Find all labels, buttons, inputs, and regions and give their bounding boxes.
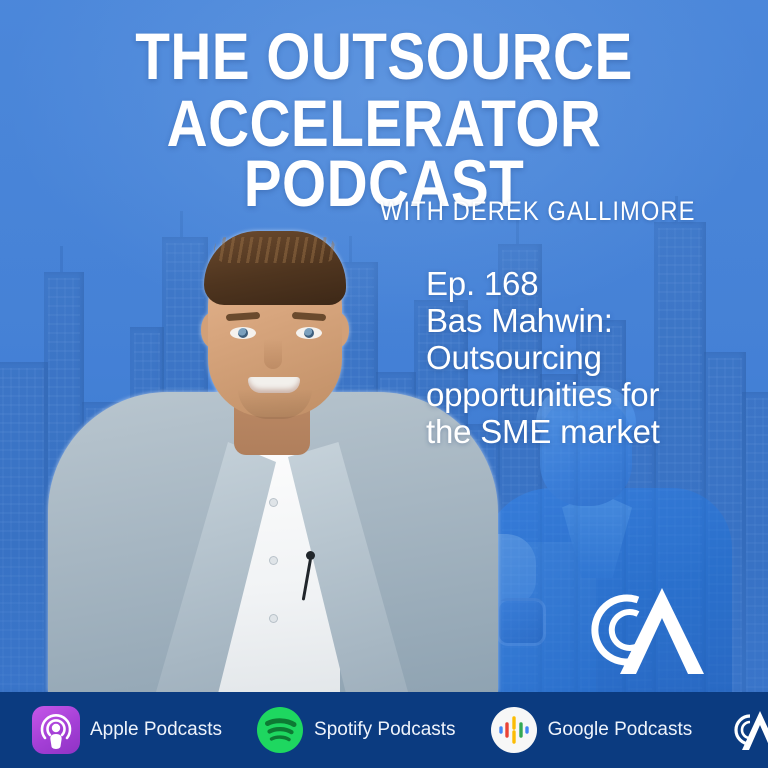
oa-logo-icon-small [724,708,768,752]
channel-label-google: Google Podcasts [548,719,693,741]
episode-topic-line-3: the SME market [426,414,726,451]
channel-google-podcasts[interactable]: Google Podcasts [490,692,693,768]
spotify-icon [256,706,304,754]
channel-label-apple: Apple Podcasts [90,719,222,741]
episode-topic-line-1: Outsourcing [426,340,726,377]
episode-guest: Bas Mahwin: [426,303,726,340]
channel-apple-podcasts[interactable]: Apple Podcasts [32,692,222,768]
episode-number: Ep. 168 [426,266,726,303]
episode-info: Ep. 168 Bas Mahwin: Outsourcing opportun… [426,266,726,451]
podcast-cover: THE OUTSOURCE ACCELERATOR PODCAST WITH D… [0,0,768,768]
show-title: THE OUTSOURCE ACCELERATOR PODCAST [0,26,768,214]
episode-topic-line-2: opportunities for [426,377,726,414]
channel-oa-website[interactable]: OA Website [724,692,768,768]
channel-spotify-podcasts[interactable]: Spotify Podcasts [256,692,456,768]
apple-podcasts-icon [32,706,80,754]
title-line-1: THE OUTSOURCE [54,26,714,87]
channel-bar: Apple Podcasts Spotify Podcasts [0,692,768,768]
lapel-mic-icon [306,551,315,560]
oa-logo-icon [576,582,716,678]
host-subtitle: WITH DEREK GALLIMORE [380,196,696,227]
channel-label-spotify: Spotify Podcasts [314,719,456,741]
google-podcasts-icon [490,706,538,754]
